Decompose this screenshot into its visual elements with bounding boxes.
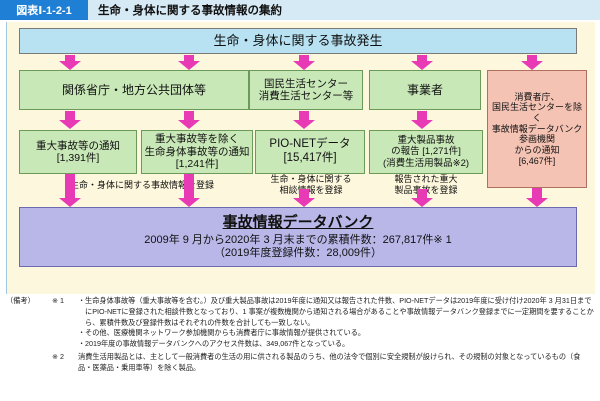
flow-node-report-serious-product-accident: 重大製品事故 の報告 [1,271件] (消費生活用製品※2) xyxy=(369,130,483,174)
arrow-to-product-accident-report xyxy=(411,111,433,129)
arrow-to-ministries-2 xyxy=(178,55,200,70)
arrow-databank-from-participating-agencies xyxy=(526,188,548,207)
arrow-databank-from-non-serious-accident xyxy=(178,174,200,207)
footnotes: （備考） ※ 1 ・ 生命身体事故等（重大事故等を含む。）及び重大製品事故は20… xyxy=(6,296,594,374)
bullet-glyph: ・ xyxy=(78,296,85,328)
footnote-bullet: ・ その他、医療機関ネットワーク参加機関からも消費者庁に事故情報が提供されている… xyxy=(78,328,594,339)
flow-node-report-serious-accident: 重大事故等の通知 [1,391件] xyxy=(19,130,137,174)
arrow-databank-from-serious-accident xyxy=(59,174,81,207)
arrow-to-pionet-data xyxy=(293,111,315,129)
footnote-bullet: ・ 生命身体事故等（重大事故等を含む。）及び重大製品事故は2019年度に通知又は… xyxy=(78,296,594,328)
footnote-text-1b: その他、医療機関ネットワーク参加機関からも消費者庁に事故情報が提供されている。 xyxy=(85,328,594,339)
footnote-mark-2: ※ 2 xyxy=(52,352,78,363)
footnote-text-2: 消費生活用製品とは、主として一般消費者の生活の用に供される製品のうち、他の法令で… xyxy=(78,352,594,374)
figure-title-bar: 図表Ⅰ-1-2-1 生命・身体に関する事故情報の集約 xyxy=(0,0,600,20)
bullet-glyph: ・ xyxy=(78,339,85,350)
arrow-to-ministries xyxy=(59,55,81,70)
footnote-text-1c: 2019年度の事故情報データバンクへのアクセス件数は、349,067件となってい… xyxy=(85,339,594,350)
figure-number-badge: 図表Ⅰ-1-2-1 xyxy=(0,0,88,20)
footnote-row-1: （備考） ※ 1 ・ 生命身体事故等（重大事故等を含む。）及び重大製品事故は20… xyxy=(6,296,594,350)
bullet-glyph: ・ xyxy=(78,328,85,339)
footnote-body-1: ・ 生命身体事故等（重大事故等を含む。）及び重大製品事故は2019年度に通知又は… xyxy=(78,296,594,350)
arrow-to-non-serious-accident-notice xyxy=(178,111,200,129)
arrow-databank-from-pionet xyxy=(293,189,315,207)
figure-title: 生命・身体に関する事故情報の集約 xyxy=(98,2,282,18)
flow-node-report-pionet-data: PIO-NETデータ [15,417件] xyxy=(255,130,365,174)
footnote-mark-1: ※ 1 xyxy=(52,296,78,307)
arrow-to-databank-agencies xyxy=(521,55,543,70)
footnote-text-1a: 生命身体事故等（重大事故等を含む。）及び重大製品事故は2019年度に通知又は報告… xyxy=(85,296,594,328)
flow-node-accident-occurrence: 生命・身体に関する事故発生 xyxy=(19,28,577,54)
flow-node-related-ministries: 関係省庁・地方公共団体等 xyxy=(19,70,249,110)
arrow-databank-from-product-accident xyxy=(411,189,433,207)
databank-cumulative-count: 2009年 9 月から2020年 3 月末までの累積件数：267,817件※ 1 xyxy=(144,234,452,247)
flow-node-accident-information-databank: 事故情報データバンク 2009年 9 月から2020年 3 月末までの累積件数：… xyxy=(19,207,577,267)
flow-node-databank-participating-agencies: 消費者庁、 国民生活センターを除く 事故情報データバンク 参画機関 からの通知 … xyxy=(487,70,587,188)
flow-node-report-non-serious-accident: 重大事故等を除く 生命身体事故等の通知 [1,241件] xyxy=(141,130,253,174)
arrow-to-business-operator xyxy=(411,55,433,70)
footnote-bullet: ・ 2019年度の事故情報データバンクへのアクセス件数は、349,067件となっ… xyxy=(78,339,594,350)
databank-title: 事故情報データバンク xyxy=(223,214,374,232)
arrow-to-consumer-center xyxy=(293,55,315,70)
footnote-row-2: ※ 2 消費生活用製品とは、主として一般消費者の生活の用に供される製品のうち、他… xyxy=(6,352,594,374)
flow-node-consumer-centers: 国民生活センター 消費生活センター等 xyxy=(249,70,363,110)
footnote-lead-label: （備考） xyxy=(6,296,52,307)
flow-diagram: 生命・身体に関する事故発生 関係省庁・地方公共団体等 国民生活センター 消費生活… xyxy=(6,22,595,294)
flow-node-business-operator: 事業者 xyxy=(369,70,481,110)
arrow-to-serious-accident-notice xyxy=(59,111,81,129)
databank-annual-count: （2019年度登録件数：28,009件） xyxy=(214,247,382,260)
